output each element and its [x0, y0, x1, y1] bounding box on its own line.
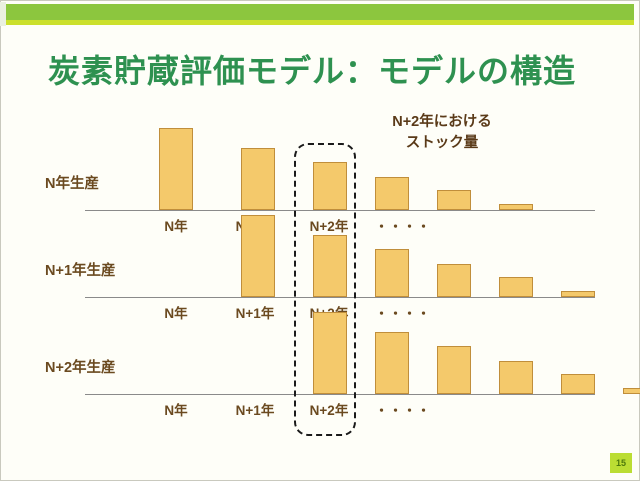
n-plus-2-column-highlight-box: [294, 143, 356, 436]
bar: [499, 361, 533, 394]
bar: [623, 388, 640, 394]
bar: [437, 264, 471, 297]
page-number-badge: 15: [610, 453, 632, 473]
bar: [375, 332, 409, 394]
bar: [437, 346, 471, 394]
bar: [375, 249, 409, 297]
bar: [241, 215, 275, 297]
tick-label: N年: [143, 399, 209, 419]
tick-label-ellipsis: ・・・・: [375, 400, 431, 419]
page-title: 炭素貯蔵評価モデル：モデルの構造: [48, 46, 608, 92]
top-green-banner: [6, 4, 634, 20]
slide-canvas: 炭素貯蔵評価モデル：モデルの構造 N+2年における ストック量 N年生産 N年 …: [0, 0, 640, 481]
top-banner-accent-line: [6, 20, 634, 25]
tick-label: N+1年: [217, 399, 293, 419]
bar: [561, 374, 595, 394]
